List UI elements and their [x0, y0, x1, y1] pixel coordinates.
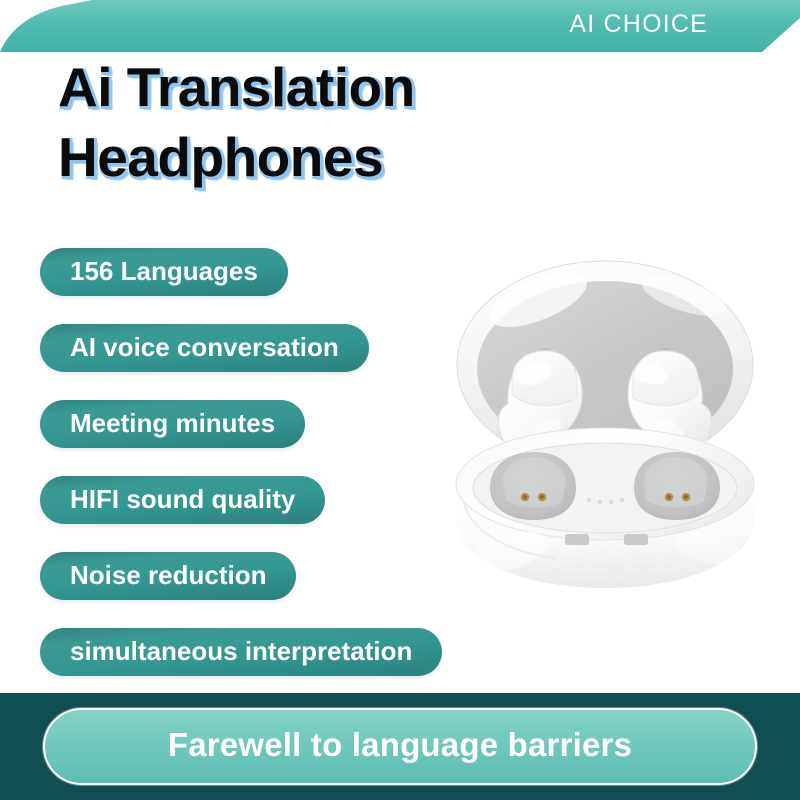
page-title: Ai Translation Headphones	[58, 53, 578, 193]
feature-pill-noise-reduction: Noise reduction	[40, 552, 296, 600]
feature-pill-hifi-sound: HIFI sound quality	[40, 476, 325, 524]
feature-pill-simultaneous-interpretation: simultaneous interpretation	[40, 628, 442, 676]
product-poster: AI CHOICE Ai Translation Headphones 156 …	[0, 0, 800, 800]
top-banner: AI CHOICE	[0, 0, 800, 52]
feature-pill-voice-conversation: AI voice conversation	[40, 324, 369, 372]
cta-button-label: Farewell to language barriers	[168, 726, 632, 767]
case-base	[456, 428, 754, 588]
title-line-2: Headphones	[58, 123, 578, 193]
footer-bar: Farewell to language barriers	[0, 693, 800, 800]
feature-pill-label: AI voice conversation	[70, 332, 339, 363]
feature-pill-languages: 156 Languages	[40, 248, 288, 296]
product-image	[446, 252, 764, 592]
title-line-1: Ai Translation	[58, 53, 578, 123]
cta-button[interactable]: Farewell to language barriers	[43, 708, 757, 785]
feature-pill-label: Noise reduction	[70, 560, 266, 591]
feature-pill-label: HIFI sound quality	[70, 484, 295, 515]
feature-pill-label: simultaneous interpretation	[70, 636, 412, 667]
feature-pill-meeting-minutes: Meeting minutes	[40, 400, 305, 448]
feature-pill-label: 156 Languages	[70, 256, 258, 287]
feature-list: 156 Languages AI voice conversation Meet…	[40, 248, 442, 676]
earbuds-case-illustration	[446, 252, 764, 592]
feature-pill-label: Meeting minutes	[70, 408, 275, 439]
banner-label: AI CHOICE	[569, 10, 800, 43]
